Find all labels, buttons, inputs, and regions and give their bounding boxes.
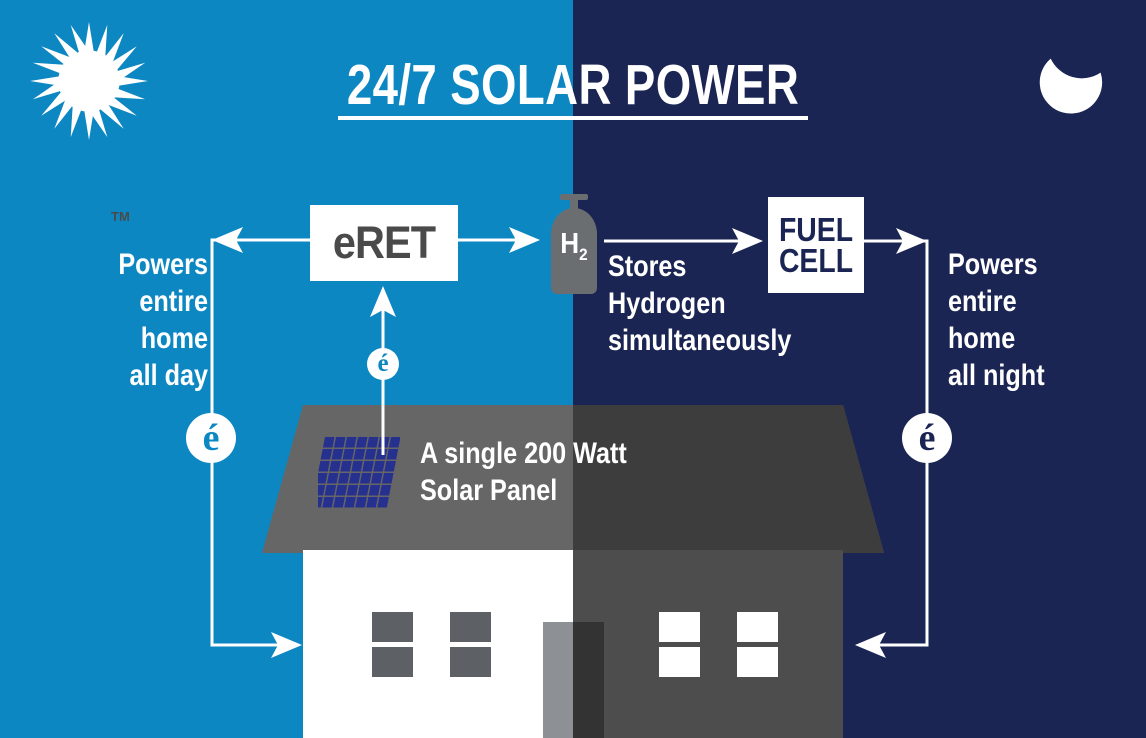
eret-box[interactable]: eRET xyxy=(310,205,458,281)
house-door-day xyxy=(543,622,573,738)
window-night-2-top xyxy=(737,612,778,642)
eret-trademark: TM xyxy=(111,209,130,224)
caption-powers-all-night: Powers entire home all night xyxy=(948,247,1133,395)
window-day-2-top xyxy=(450,612,491,642)
house-body-night xyxy=(573,550,843,738)
window-day-1-top xyxy=(372,612,413,642)
tank-subscript: 2 xyxy=(579,245,588,264)
eret-label: eRET xyxy=(316,205,452,281)
house-door-night xyxy=(573,622,604,738)
window-day-2-bottom xyxy=(450,647,491,677)
electron-badge-middle: é xyxy=(367,348,399,380)
window-day-1-bottom xyxy=(372,647,413,677)
window-night-1-bottom xyxy=(659,647,700,677)
window-night-1-top xyxy=(659,612,700,642)
fuel-cell-line-1: FUEL xyxy=(779,214,853,245)
house-body-day xyxy=(303,550,573,738)
caption-solar-panel: A single 200 Watt Solar Panel xyxy=(420,436,706,509)
caption-stores-hydrogen: Stores Hydrogen simultaneously xyxy=(608,249,860,360)
caption-powers-all-day: Powers entire home all day xyxy=(67,247,208,395)
window-night-2-bottom xyxy=(737,647,778,677)
solar-panel-icon xyxy=(318,437,400,510)
moon-icon xyxy=(1036,42,1114,120)
hydrogen-tank-label: H2 xyxy=(548,228,600,265)
title-underline xyxy=(338,116,808,120)
electron-badge-left: é xyxy=(186,413,236,463)
infographic-canvas: 24/7 SOLAR POWER xyxy=(0,0,1146,738)
electron-badge-right: é xyxy=(902,413,952,463)
page-title: 24/7 SOLAR POWER xyxy=(115,52,1032,118)
tank-h-letter: H xyxy=(560,228,579,260)
